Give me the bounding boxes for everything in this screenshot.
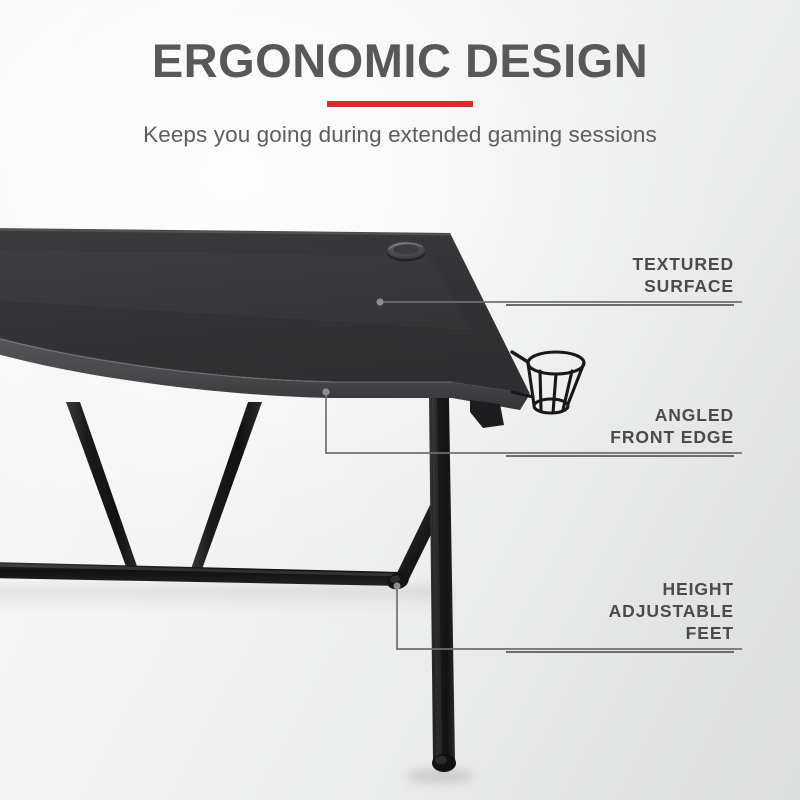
callout-line-1: ANGLED: [506, 404, 734, 426]
product-illustration: [0, 0, 800, 800]
callout-line-2: ADJUSTABLE: [506, 600, 734, 622]
desktop-surface: [0, 228, 530, 410]
callout-textured-surface: TEXTURED SURFACE: [506, 253, 734, 306]
callout-underline: [506, 304, 734, 306]
callout-underline: [506, 455, 734, 457]
callout-height-adjustable-feet: HEIGHT ADJUSTABLE FEET: [506, 578, 734, 653]
side-bracket: [470, 400, 504, 428]
desk-leg-right: [429, 398, 456, 772]
callout-angled-front-edge: ANGLED FRONT EDGE: [506, 404, 734, 457]
callout-line-1: TEXTURED: [506, 253, 734, 275]
floor-shadow: [0, 586, 474, 783]
desk-frame-left-struts: [66, 402, 262, 572]
infographic-canvas: ERGONOMIC DESIGN Keeps you going during …: [0, 0, 800, 800]
callout-line-2: SURFACE: [506, 275, 734, 297]
callout-underline: [506, 651, 734, 653]
callout-line-1: HEIGHT: [506, 578, 734, 600]
callout-line-2: FRONT EDGE: [506, 426, 734, 448]
callout-line-3: FEET: [506, 622, 734, 644]
cable-grommet: [387, 242, 425, 262]
